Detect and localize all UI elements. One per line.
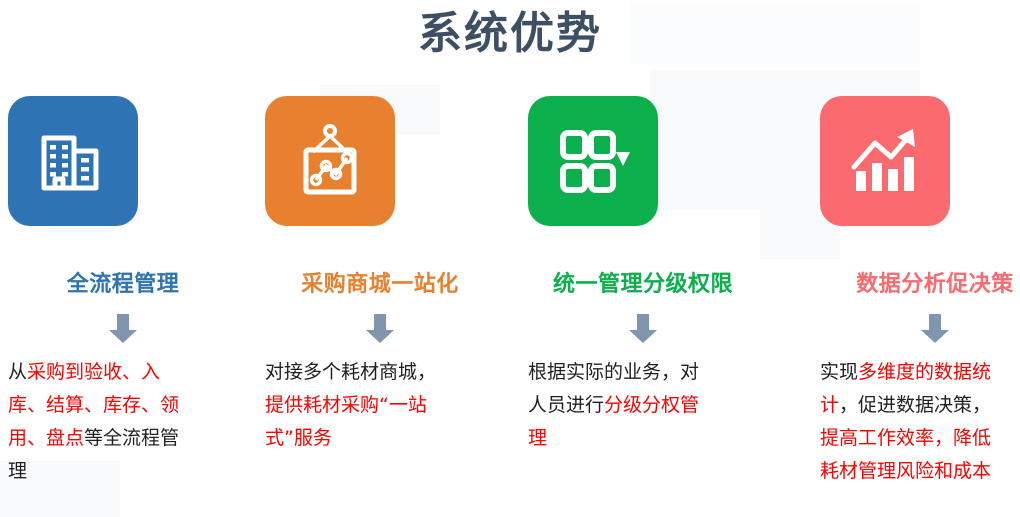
- advantage-card-row: 全流程管理 从采购到验收、入库、结算、库存、领用、盘点等全流程管理: [0, 96, 1020, 517]
- card-title: 数据分析促决策: [820, 266, 1020, 298]
- card-description: 从采购到验收、入库、结算、库存、领用、盘点等全流程管理: [8, 356, 193, 488]
- down-arrow-icon: [528, 310, 758, 346]
- building-icon: [36, 124, 110, 198]
- card-title: 统一管理分级权限: [528, 266, 758, 298]
- card-description: 实现多维度的数据统计，促进数据决策，提高工作效率，降低耗材管理风险和成本: [820, 356, 1005, 488]
- icon-tile-full-process-management[interactable]: [8, 96, 138, 226]
- slide-canvas: 系统优势: [0, 0, 1020, 517]
- desc-highlight-text: 提高工作效率，降低耗材管理风险和成本: [820, 427, 991, 482]
- icon-tile-unified-tiered-permissions[interactable]: [528, 96, 658, 226]
- card-title: 全流程管理: [8, 266, 238, 298]
- icon-tile-procurement-mall-one-stop[interactable]: [265, 96, 395, 226]
- hanging-chart-sign-icon: [291, 122, 369, 200]
- down-arrow-icon: [8, 310, 238, 346]
- grid-dropdown-icon: [556, 124, 630, 198]
- card-description: 根据实际的业务，对人员进行分级分权管理: [528, 356, 713, 455]
- desc-plain-text: 实现: [820, 361, 858, 383]
- desc-highlight-text: 提供耗材采购“一站式”服务: [265, 394, 427, 449]
- page-title: 系统优势: [0, 6, 1020, 61]
- desc-plain-text: 从: [8, 361, 27, 383]
- desc-plain-text: 对接多个耗材商城，: [265, 361, 436, 383]
- card-description: 对接多个耗材商城，提供耗材采购“一站式”服务: [265, 356, 450, 455]
- advantage-card-unified-tiered-permissions: 统一管理分级权限 根据实际的业务，对人员进行分级分权管理: [528, 96, 758, 455]
- bar-chart-uptrend-icon: [847, 123, 923, 199]
- down-arrow-icon: [820, 310, 1020, 346]
- advantage-card-data-analysis-decisions: 数据分析促决策 实现多维度的数据统计，促进数据决策，提高工作效率，降低耗材管理风…: [820, 96, 1020, 488]
- card-title: 采购商城一站化: [265, 266, 495, 298]
- down-arrow-icon: [265, 310, 495, 346]
- advantage-card-full-process-management: 全流程管理 从采购到验收、入库、结算、库存、领用、盘点等全流程管理: [8, 96, 238, 488]
- desc-plain-text: ，促进数据决策，: [839, 394, 991, 416]
- advantage-card-procurement-mall-one-stop: 采购商城一站化 对接多个耗材商城，提供耗材采购“一站式”服务: [265, 96, 495, 455]
- icon-tile-data-analysis-decisions[interactable]: [820, 96, 950, 226]
